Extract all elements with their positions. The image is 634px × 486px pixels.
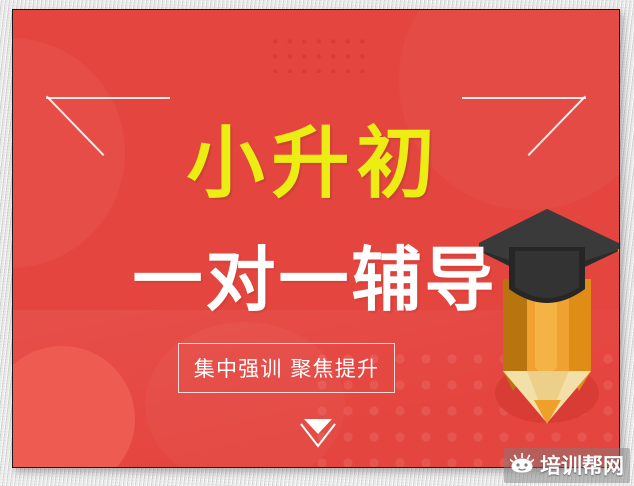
slogan-box: 集中强训 聚焦提升 (178, 343, 395, 393)
sun-face-eye-right (524, 463, 527, 466)
watermark: 培训帮网 (504, 448, 630, 483)
watermark-text: 培训帮网 (540, 450, 624, 480)
promo-banner: 小升初 一对一辅导 集中强训 聚焦提升 (13, 10, 619, 467)
page-backdrop: 小升初 一对一辅导 集中强训 聚焦提升 (0, 0, 634, 486)
sun-ray (521, 453, 523, 458)
sun-face-eye-left (516, 463, 519, 466)
chevron-down-icon[interactable] (296, 415, 340, 453)
bracket-left-horizontal (46, 97, 170, 99)
slogan-text: 集中强训 聚焦提升 (194, 353, 379, 383)
bracket-right-horizontal (462, 97, 586, 99)
sun-face-icon (510, 453, 534, 478)
banner-frame: 小升初 一对一辅导 集中强训 聚焦提升 (12, 9, 620, 468)
sun-ray (510, 458, 514, 462)
sun-ray (527, 454, 531, 459)
page-title-primary: 小升初 (13, 120, 619, 208)
top-dot-grid (265, 31, 375, 73)
sun-ray (530, 458, 534, 462)
sun-ray (514, 454, 518, 459)
page-title-secondary: 一对一辅导 (13, 240, 619, 320)
